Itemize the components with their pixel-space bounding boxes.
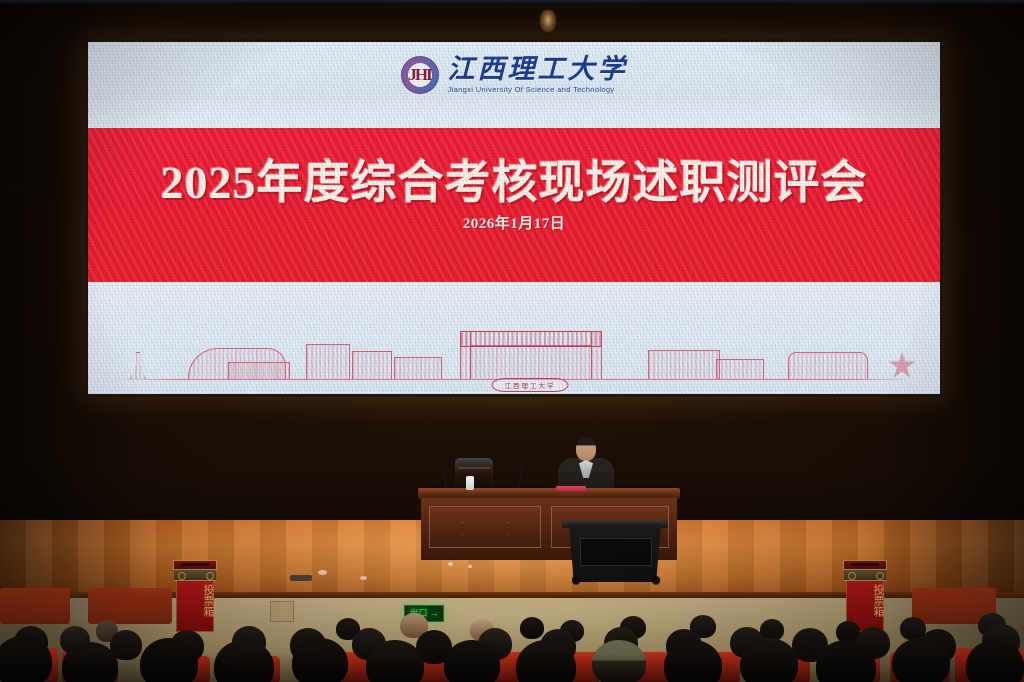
skyline-building — [788, 352, 868, 379]
table-panel-left — [429, 506, 541, 548]
floor-debris — [448, 562, 453, 566]
skyline-building — [394, 357, 442, 379]
campus-skyline-illustration: 江西理工大学 — [88, 282, 940, 394]
audience — [0, 612, 1024, 682]
audience-head — [892, 638, 950, 682]
podium-shelf — [580, 538, 652, 566]
ceiling-spotlight-icon — [540, 10, 556, 32]
ceiling-edge — [0, 0, 1024, 4]
skyline-building — [591, 331, 602, 379]
skyline-building — [130, 352, 146, 379]
skyline-building — [306, 344, 350, 379]
ballot-box-slot — [181, 563, 209, 566]
floor-debris — [318, 570, 327, 575]
university-wordmark: 江西理工大学 Jiangxi University Of Science and… — [448, 56, 628, 94]
university-emblem-icon: JHI — [401, 56, 439, 94]
skyline-gate-label: 江西理工大学 — [492, 378, 569, 392]
skyline-star-monument — [888, 352, 916, 379]
skyline-building — [352, 351, 392, 379]
university-name-cn: 江西理工大学 — [448, 56, 628, 83]
skyline-building — [470, 345, 592, 379]
floor-debris — [360, 576, 367, 580]
ballot-box-ring — [876, 572, 884, 580]
wall-access-plate — [0, 185, 26, 198]
floor-debris — [290, 575, 312, 581]
skyline-building — [460, 331, 471, 379]
ballot-box-ring — [178, 572, 186, 580]
audience-head — [740, 638, 798, 682]
event-date: 2026年1月17日 — [88, 212, 940, 233]
podium-caster — [572, 576, 580, 584]
emblem-monogram: JHI — [401, 56, 439, 94]
skyline-building — [716, 359, 764, 379]
audience-head — [292, 638, 348, 682]
speaker-head — [576, 437, 596, 461]
podium-caster — [652, 576, 660, 584]
ballot-box-slot — [851, 563, 879, 566]
floor-debris — [468, 565, 472, 568]
conference-hall-photo: JHI 江西理工大学 Jiangxi University Of Science… — [0, 0, 1024, 682]
skyline-building — [228, 362, 290, 379]
university-logo-lockup: JHI 江西理工大学 Jiangxi University Of Science… — [88, 56, 940, 94]
ballot-box-ring — [848, 572, 856, 580]
university-name-en: Jiangxi University Of Science and Techno… — [448, 86, 615, 94]
audience-head — [520, 617, 544, 639]
audience-head — [664, 640, 722, 682]
event-title: 2025年度综合考核现场述职测评会 — [88, 146, 940, 212]
led-stage-screen: JHI 江西理工大学 Jiangxi University Of Science… — [88, 42, 940, 394]
red-document — [556, 486, 586, 491]
audience-head — [592, 640, 646, 682]
empty-executive-chair — [455, 458, 493, 485]
audience-head — [444, 640, 500, 682]
water-cup — [466, 476, 474, 490]
audience-head — [140, 638, 198, 682]
skyline-building — [648, 350, 720, 379]
ballot-box-ring — [206, 572, 214, 580]
